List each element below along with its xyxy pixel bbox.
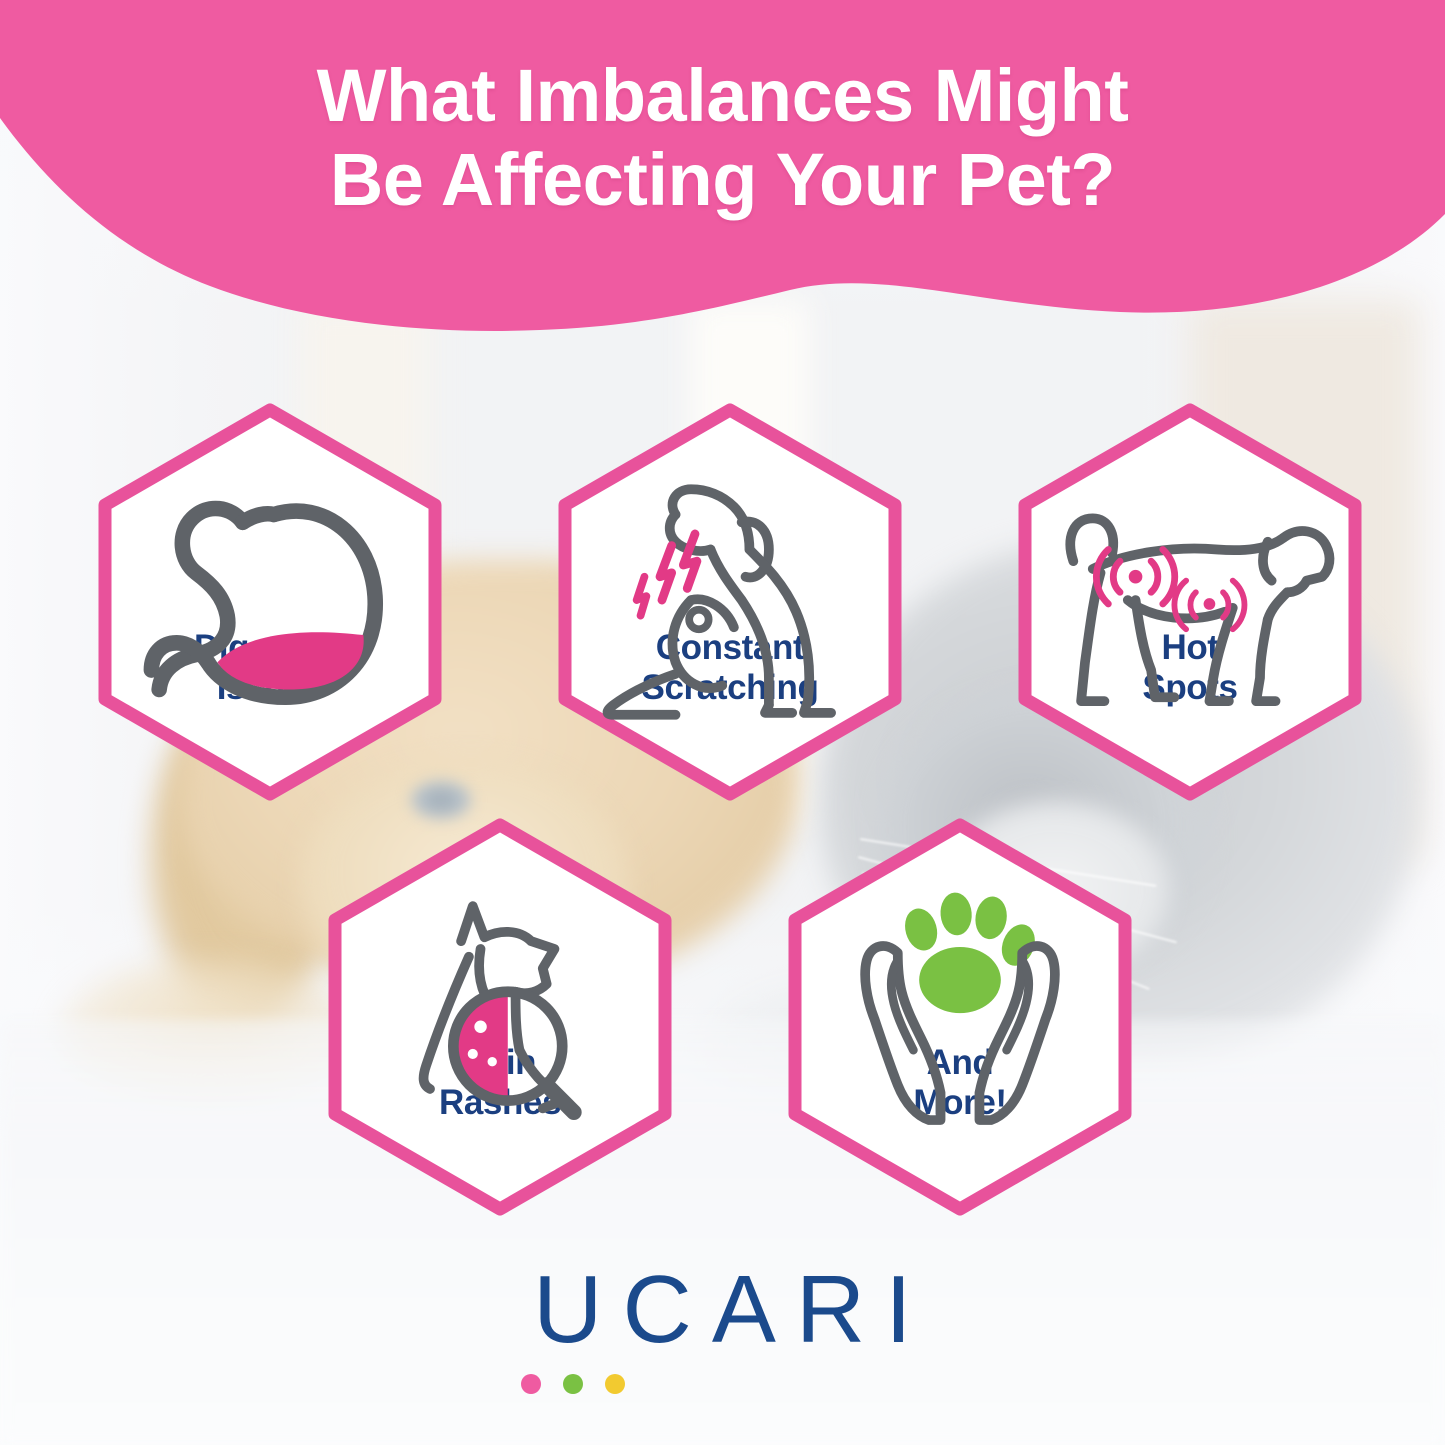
- dog-hotspots-icon: [1100, 462, 1280, 612]
- logo-dot-yellow: [605, 1374, 625, 1394]
- header-banner: What Imbalances Might Be Affecting Your …: [0, 0, 1445, 340]
- paw-pad: [919, 947, 1001, 1013]
- dog-scratching-icon: [640, 462, 820, 612]
- title-line-2: Be Affecting Your Pet?: [0, 138, 1445, 222]
- hex-card-and-more[interactable]: And More!: [785, 815, 1135, 1219]
- hex-card-skin-rashes[interactable]: Skin Rashes: [325, 815, 675, 1219]
- dog-magnifier-rash-icon: [410, 877, 590, 1027]
- logo-dot-green: [563, 1374, 583, 1394]
- logo-dot-pink: [521, 1374, 541, 1394]
- logo-dots: [0, 1374, 1445, 1394]
- brand-logo: UCARI: [0, 1262, 1445, 1394]
- logo-wordmark: UCARI: [0, 1262, 1445, 1358]
- hex-card-constant-scratching[interactable]: Constant Scratching: [555, 400, 905, 804]
- hex-card-hot-spots[interactable]: Hot Spots: [1015, 400, 1365, 804]
- hex-card-digestive-issues[interactable]: Digestive Issues: [95, 400, 445, 804]
- page-title: What Imbalances Might Be Affecting Your …: [0, 54, 1445, 223]
- stomach-icon: [180, 462, 360, 612]
- hands-paw-icon: [870, 877, 1050, 1027]
- title-line-1: What Imbalances Might: [317, 54, 1129, 137]
